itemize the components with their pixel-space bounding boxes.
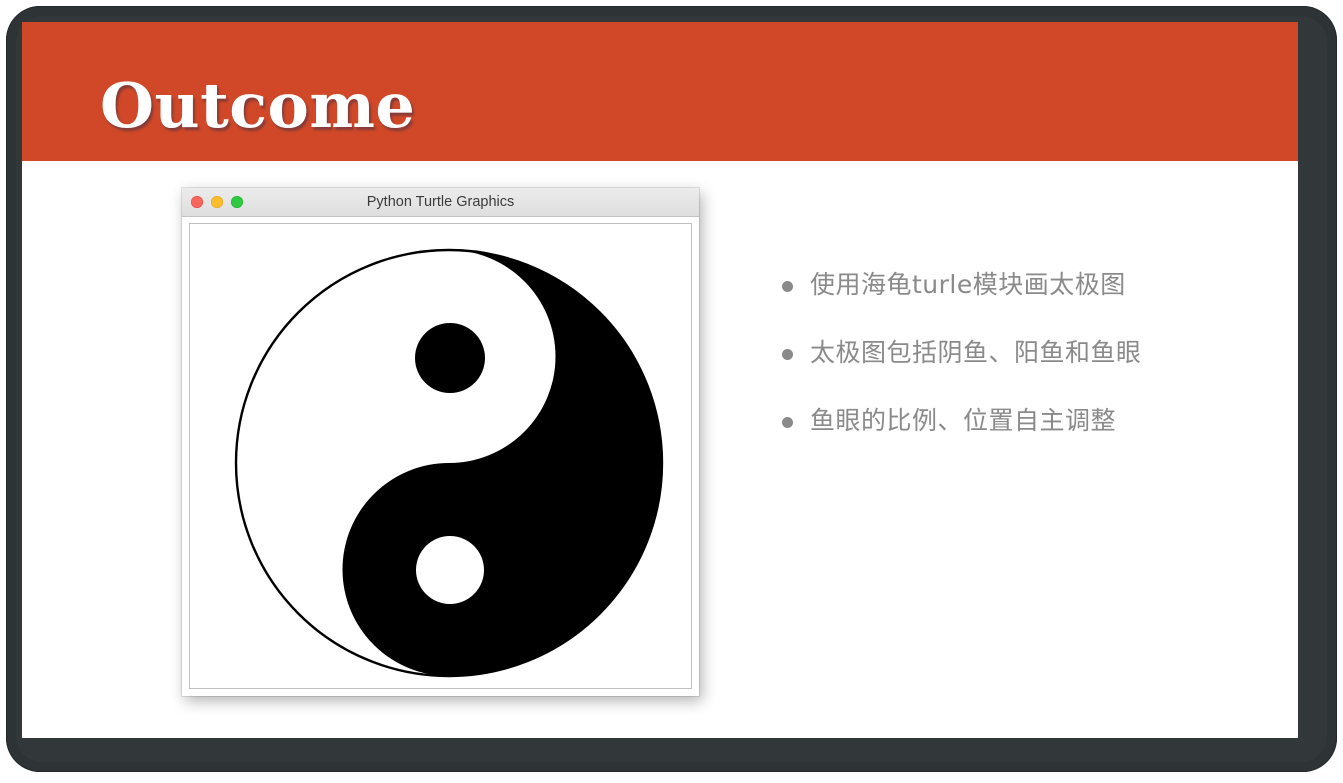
turtle-canvas [189, 223, 692, 689]
list-item: 太极图包括阴鱼、阳鱼和鱼眼 [782, 336, 1252, 370]
slide-screenshot: Outcome Python Turtle Graphics [0, 0, 1343, 783]
bullet-label: 太极图包括阴鱼、阳鱼和鱼眼 [810, 336, 1142, 370]
presentation-slide: Outcome Python Turtle Graphics [22, 22, 1298, 738]
bullet-list: 使用海龟turle模块画太极图 太极图包括阴鱼、阳鱼和鱼眼 鱼眼的比例、位置自主… [782, 268, 1252, 472]
bullet-dot-icon [782, 417, 793, 428]
page-title: Outcome [100, 75, 415, 137]
bullet-dot-icon [782, 281, 793, 292]
window-titlebar[interactable]: Python Turtle Graphics [182, 188, 699, 217]
bullet-label: 使用海龟turle模块画太极图 [810, 268, 1126, 302]
list-item: 使用海龟turle模块画太极图 [782, 268, 1252, 302]
yin-yang-taiji-diagram [190, 224, 691, 688]
window-title: Python Turtle Graphics [182, 188, 699, 216]
yang-fish-eye-dark [415, 323, 485, 393]
yin-fish-eye-light [416, 536, 484, 604]
list-item: 鱼眼的比例、位置自主调整 [782, 404, 1252, 438]
bullet-label: 鱼眼的比例、位置自主调整 [810, 404, 1116, 438]
python-turtle-graphics-window[interactable]: Python Turtle Graphics [182, 188, 699, 696]
bullet-dot-icon [782, 349, 793, 360]
